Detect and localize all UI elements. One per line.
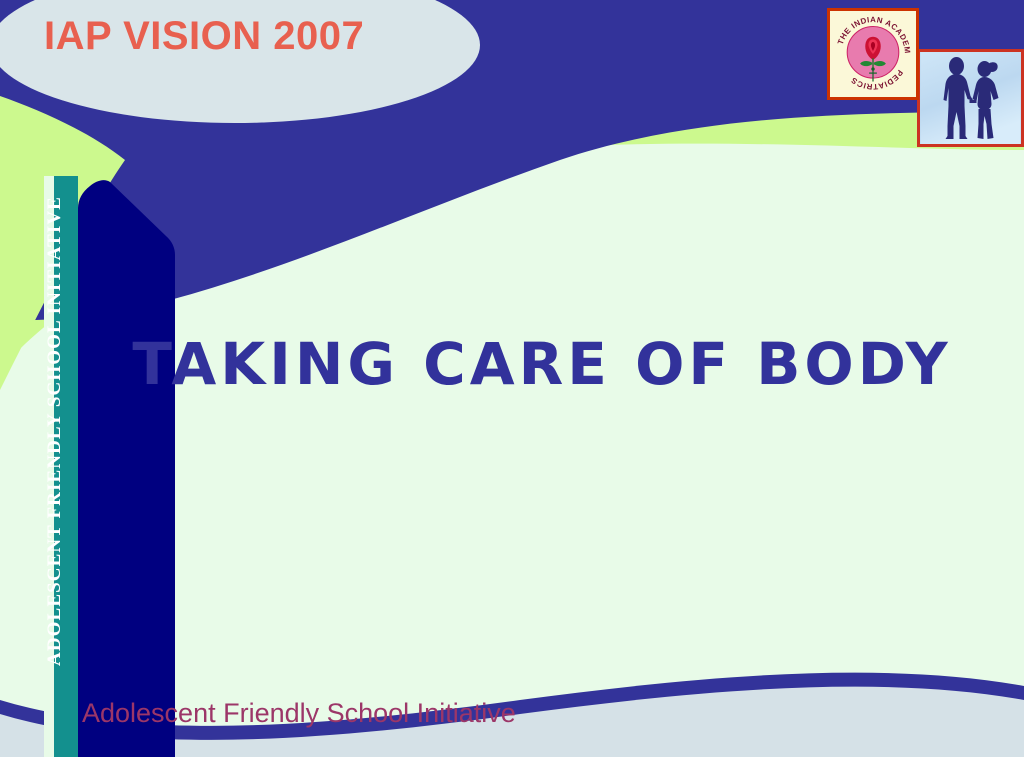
indian-academy-of-pediatrics-logo: THE INDIAN ACADEMY OF PEDIATRICS	[827, 8, 919, 100]
sidebar-navy-panel	[78, 180, 175, 757]
bottom-white-strip	[0, 757, 1024, 768]
presentation-slide: IAP VISION 2007 ADOLESCENT FRIENDLY SCHO…	[0, 0, 1024, 768]
slide-main-title: TAKING CARE OF BODY	[0, 330, 1024, 398]
footer-text: Adolescent Friendly School Initiative	[82, 698, 516, 729]
adolescent-couple-silhouette	[917, 49, 1024, 147]
header-title: IAP VISION 2007	[44, 14, 364, 59]
sidebar-mint-gap	[44, 176, 54, 757]
held-hands	[970, 100, 977, 103]
sidebar-teal-strip	[54, 176, 78, 757]
